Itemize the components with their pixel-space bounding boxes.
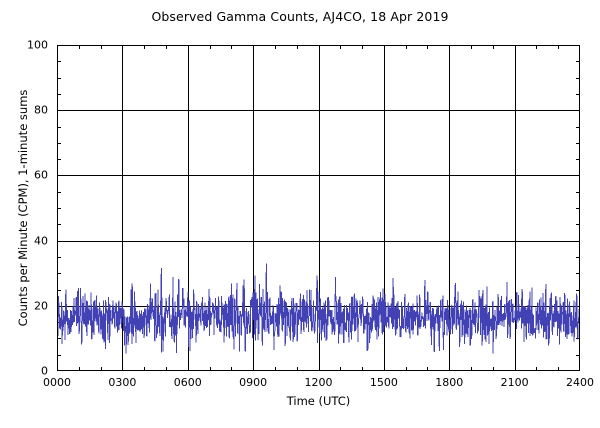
x-tick-label: 0600 xyxy=(174,376,202,389)
x-axis-label: Time (UTC) xyxy=(57,394,580,408)
gamma-counts-figure: Observed Gamma Counts, AJ4CO, 18 Apr 201… xyxy=(0,0,600,428)
x-tick-label: 2400 xyxy=(566,376,594,389)
x-tick-label: 2100 xyxy=(501,376,529,389)
x-tick-label: 1500 xyxy=(370,376,398,389)
plot-area xyxy=(57,45,580,371)
y-axis-label: Counts per Minute (CPM), 1-minute sums xyxy=(16,45,32,371)
x-tick-label: 0900 xyxy=(239,376,267,389)
x-tick-label: 0000 xyxy=(43,376,71,389)
series-line-gamma-counts xyxy=(57,264,580,354)
chart-title: Observed Gamma Counts, AJ4CO, 18 Apr 201… xyxy=(0,9,600,24)
x-tick-label: 1200 xyxy=(305,376,333,389)
x-tick-label: 0300 xyxy=(108,376,136,389)
plot-svg xyxy=(57,45,580,371)
x-tick-label: 1800 xyxy=(435,376,463,389)
